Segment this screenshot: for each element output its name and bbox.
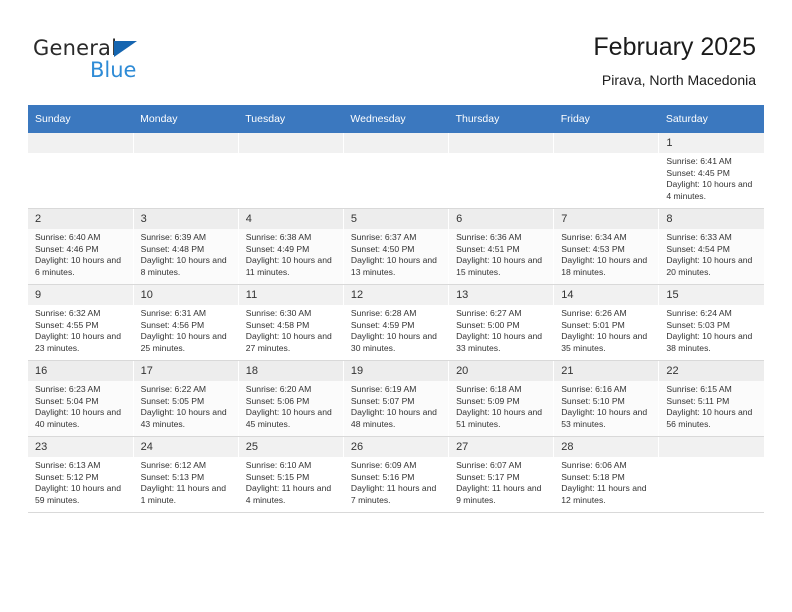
daylight-duration: Daylight: 11 hours and 7 minutes.: [351, 483, 442, 506]
daylight-duration: Daylight: 11 hours and 12 minutes.: [561, 483, 652, 506]
calendar-day-cell[interactable]: 1Sunrise: 6:41 AMSunset: 4:45 PMDaylight…: [659, 133, 764, 209]
day-number: 17: [134, 361, 238, 381]
calendar-day-cell[interactable]: 10Sunrise: 6:31 AMSunset: 4:56 PMDayligh…: [133, 285, 238, 361]
calendar-day-cell[interactable]: 21Sunrise: 6:16 AMSunset: 5:10 PMDayligh…: [554, 361, 659, 437]
sunset-time: Sunset: 5:13 PM: [141, 472, 232, 484]
daylight-duration: Daylight: 10 hours and 6 minutes.: [35, 255, 127, 278]
daylight-duration: Daylight: 10 hours and 20 minutes.: [666, 255, 758, 278]
sunrise-time: Sunrise: 6:40 AM: [35, 232, 127, 244]
sunset-time: Sunset: 5:06 PM: [246, 396, 337, 408]
weekday-header-tuesday: Tuesday: [238, 105, 343, 133]
calendar-day-cell[interactable]: 5Sunrise: 6:37 AMSunset: 4:50 PMDaylight…: [343, 209, 448, 285]
sunset-time: Sunset: 4:56 PM: [141, 320, 232, 332]
day-details: Sunrise: 6:36 AMSunset: 4:51 PMDaylight:…: [449, 229, 553, 278]
sunset-time: Sunset: 4:51 PM: [456, 244, 547, 256]
calendar-week-row: 1Sunrise: 6:41 AMSunset: 4:45 PMDaylight…: [28, 133, 764, 209]
daylight-duration: Daylight: 10 hours and 13 minutes.: [351, 255, 442, 278]
day-details: Sunrise: 6:19 AMSunset: 5:07 PMDaylight:…: [344, 381, 448, 430]
calendar-cell-empty: [28, 133, 133, 209]
day-details: Sunrise: 6:12 AMSunset: 5:13 PMDaylight:…: [134, 457, 238, 506]
sunrise-time: Sunrise: 6:23 AM: [35, 384, 127, 396]
sunrise-time: Sunrise: 6:06 AM: [561, 460, 652, 472]
sunrise-time: Sunrise: 6:28 AM: [351, 308, 442, 320]
day-details: Sunrise: 6:09 AMSunset: 5:16 PMDaylight:…: [344, 457, 448, 506]
sunset-time: Sunset: 5:09 PM: [456, 396, 547, 408]
day-number: [554, 133, 658, 153]
sunrise-time: Sunrise: 6:20 AM: [246, 384, 337, 396]
day-number: 20: [449, 361, 553, 381]
sunset-time: Sunset: 4:59 PM: [351, 320, 442, 332]
calendar-day-cell[interactable]: 23Sunrise: 6:13 AMSunset: 5:12 PMDayligh…: [28, 437, 133, 513]
sunrise-time: Sunrise: 6:41 AM: [666, 156, 758, 168]
day-number: [659, 437, 764, 457]
sunset-time: Sunset: 4:58 PM: [246, 320, 337, 332]
calendar-cell-empty: [554, 133, 659, 209]
calendar-day-cell[interactable]: 18Sunrise: 6:20 AMSunset: 5:06 PMDayligh…: [238, 361, 343, 437]
sunrise-time: Sunrise: 6:36 AM: [456, 232, 547, 244]
title-block: February 2025 Pirava, North Macedonia: [593, 32, 756, 90]
daylight-duration: Daylight: 10 hours and 18 minutes.: [561, 255, 652, 278]
daylight-duration: Daylight: 10 hours and 45 minutes.: [246, 407, 337, 430]
daylight-duration: Daylight: 10 hours and 11 minutes.: [246, 255, 337, 278]
daylight-duration: Daylight: 10 hours and 40 minutes.: [35, 407, 127, 430]
day-details: Sunrise: 6:10 AMSunset: 5:15 PMDaylight:…: [239, 457, 343, 506]
calendar-cell-empty: [659, 437, 764, 513]
day-number: 22: [659, 361, 764, 381]
calendar-day-cell[interactable]: 4Sunrise: 6:38 AMSunset: 4:49 PMDaylight…: [238, 209, 343, 285]
sunrise-time: Sunrise: 6:32 AM: [35, 308, 127, 320]
sunrise-time: Sunrise: 6:22 AM: [141, 384, 232, 396]
day-details: Sunrise: 6:37 AMSunset: 4:50 PMDaylight:…: [344, 229, 448, 278]
sunrise-time: Sunrise: 6:09 AM: [351, 460, 442, 472]
logo-text-general: General: [33, 36, 117, 60]
day-details: Sunrise: 6:39 AMSunset: 4:48 PMDaylight:…: [134, 229, 238, 278]
day-number: 13: [449, 285, 553, 305]
calendar-page: General Blue February 2025 Pirava, North…: [0, 0, 792, 612]
calendar-day-cell[interactable]: 13Sunrise: 6:27 AMSunset: 5:00 PMDayligh…: [449, 285, 554, 361]
calendar-cell-empty: [343, 133, 448, 209]
day-number: 23: [28, 437, 133, 457]
daylight-duration: Daylight: 10 hours and 43 minutes.: [141, 407, 232, 430]
daylight-duration: Daylight: 10 hours and 53 minutes.: [561, 407, 652, 430]
sunrise-time: Sunrise: 6:33 AM: [666, 232, 758, 244]
day-details: Sunrise: 6:23 AMSunset: 5:04 PMDaylight:…: [28, 381, 133, 430]
daylight-duration: Daylight: 10 hours and 38 minutes.: [666, 331, 758, 354]
calendar-week-row: 9Sunrise: 6:32 AMSunset: 4:55 PMDaylight…: [28, 285, 764, 361]
sunrise-time: Sunrise: 6:31 AM: [141, 308, 232, 320]
page-subtitle: Pirava, North Macedonia: [593, 70, 756, 90]
calendar-cell-empty: [133, 133, 238, 209]
day-details: Sunrise: 6:32 AMSunset: 4:55 PMDaylight:…: [28, 305, 133, 354]
day-details: Sunrise: 6:38 AMSunset: 4:49 PMDaylight:…: [239, 229, 343, 278]
day-details: Sunrise: 6:26 AMSunset: 5:01 PMDaylight:…: [554, 305, 658, 354]
day-details: Sunrise: 6:30 AMSunset: 4:58 PMDaylight:…: [239, 305, 343, 354]
sunset-time: Sunset: 5:12 PM: [35, 472, 127, 484]
daylight-duration: Daylight: 10 hours and 56 minutes.: [666, 407, 758, 430]
sunset-time: Sunset: 5:10 PM: [561, 396, 652, 408]
weekday-header-saturday: Saturday: [659, 105, 764, 133]
sunset-time: Sunset: 5:05 PM: [141, 396, 232, 408]
sunrise-time: Sunrise: 6:19 AM: [351, 384, 442, 396]
page-header: General Blue February 2025 Pirava, North…: [0, 0, 792, 103]
day-details: Sunrise: 6:41 AMSunset: 4:45 PMDaylight:…: [659, 153, 764, 202]
day-number: 5: [344, 209, 448, 229]
calendar-day-cell[interactable]: 22Sunrise: 6:15 AMSunset: 5:11 PMDayligh…: [659, 361, 764, 437]
sunrise-time: Sunrise: 6:38 AM: [246, 232, 337, 244]
day-details: Sunrise: 6:27 AMSunset: 5:00 PMDaylight:…: [449, 305, 553, 354]
sunset-time: Sunset: 5:01 PM: [561, 320, 652, 332]
daylight-duration: Daylight: 10 hours and 8 minutes.: [141, 255, 232, 278]
sunrise-time: Sunrise: 6:12 AM: [141, 460, 232, 472]
calendar-day-cell[interactable]: 11Sunrise: 6:30 AMSunset: 4:58 PMDayligh…: [238, 285, 343, 361]
weekday-header-wednesday: Wednesday: [343, 105, 448, 133]
sunset-time: Sunset: 4:49 PM: [246, 244, 337, 256]
sunrise-time: Sunrise: 6:39 AM: [141, 232, 232, 244]
sunset-time: Sunset: 4:54 PM: [666, 244, 758, 256]
calendar-body: 1Sunrise: 6:41 AMSunset: 4:45 PMDaylight…: [28, 133, 764, 513]
calendar-day-cell[interactable]: 14Sunrise: 6:26 AMSunset: 5:01 PMDayligh…: [554, 285, 659, 361]
weekday-header-monday: Monday: [133, 105, 238, 133]
day-details: Sunrise: 6:20 AMSunset: 5:06 PMDaylight:…: [239, 381, 343, 430]
day-number: 19: [344, 361, 448, 381]
day-number: [28, 133, 133, 153]
day-details: Sunrise: 6:22 AMSunset: 5:05 PMDaylight:…: [134, 381, 238, 430]
logo-text-blue: Blue: [90, 58, 136, 82]
sunset-time: Sunset: 5:00 PM: [456, 320, 547, 332]
calendar-day-cell[interactable]: 9Sunrise: 6:32 AMSunset: 4:55 PMDaylight…: [28, 285, 133, 361]
day-details: Sunrise: 6:18 AMSunset: 5:09 PMDaylight:…: [449, 381, 553, 430]
day-details: Sunrise: 6:24 AMSunset: 5:03 PMDaylight:…: [659, 305, 764, 354]
day-number: 9: [28, 285, 133, 305]
sunrise-sunset-calendar: Sunday Monday Tuesday Wednesday Thursday…: [28, 105, 764, 513]
day-details: Sunrise: 6:28 AMSunset: 4:59 PMDaylight:…: [344, 305, 448, 354]
sunset-time: Sunset: 4:46 PM: [35, 244, 127, 256]
day-details: Sunrise: 6:33 AMSunset: 4:54 PMDaylight:…: [659, 229, 764, 278]
sunset-time: Sunset: 4:48 PM: [141, 244, 232, 256]
calendar-day-cell[interactable]: 20Sunrise: 6:18 AMSunset: 5:09 PMDayligh…: [449, 361, 554, 437]
weekday-header-row: Sunday Monday Tuesday Wednesday Thursday…: [28, 105, 764, 133]
daylight-duration: Daylight: 10 hours and 51 minutes.: [456, 407, 547, 430]
sunrise-time: Sunrise: 6:27 AM: [456, 308, 547, 320]
daylight-duration: Daylight: 10 hours and 48 minutes.: [351, 407, 442, 430]
day-details: Sunrise: 6:15 AMSunset: 5:11 PMDaylight:…: [659, 381, 764, 430]
calendar-day-cell[interactable]: 6Sunrise: 6:36 AMSunset: 4:51 PMDaylight…: [449, 209, 554, 285]
calendar-day-cell[interactable]: 16Sunrise: 6:23 AMSunset: 5:04 PMDayligh…: [28, 361, 133, 437]
day-number: 8: [659, 209, 764, 229]
weekday-header-thursday: Thursday: [449, 105, 554, 133]
weekday-header-friday: Friday: [554, 105, 659, 133]
sunrise-time: Sunrise: 6:18 AM: [456, 384, 547, 396]
day-details: Sunrise: 6:16 AMSunset: 5:10 PMDaylight:…: [554, 381, 658, 430]
calendar-day-cell[interactable]: 24Sunrise: 6:12 AMSunset: 5:13 PMDayligh…: [133, 437, 238, 513]
page-title: February 2025: [593, 32, 756, 62]
day-number: 15: [659, 285, 764, 305]
sunset-time: Sunset: 4:53 PM: [561, 244, 652, 256]
day-details: Sunrise: 6:31 AMSunset: 4:56 PMDaylight:…: [134, 305, 238, 354]
calendar-week-row: 23Sunrise: 6:13 AMSunset: 5:12 PMDayligh…: [28, 437, 764, 513]
calendar-day-cell[interactable]: 25Sunrise: 6:10 AMSunset: 5:15 PMDayligh…: [238, 437, 343, 513]
sunset-time: Sunset: 4:55 PM: [35, 320, 127, 332]
calendar-day-cell[interactable]: 26Sunrise: 6:09 AMSunset: 5:16 PMDayligh…: [343, 437, 448, 513]
day-number: [239, 133, 343, 153]
calendar-day-cell[interactable]: 17Sunrise: 6:22 AMSunset: 5:05 PMDayligh…: [133, 361, 238, 437]
daylight-duration: Daylight: 11 hours and 9 minutes.: [456, 483, 547, 506]
day-details: Sunrise: 6:06 AMSunset: 5:18 PMDaylight:…: [554, 457, 658, 506]
sunrise-time: Sunrise: 6:37 AM: [351, 232, 442, 244]
sunset-time: Sunset: 5:18 PM: [561, 472, 652, 484]
daylight-duration: Daylight: 10 hours and 15 minutes.: [456, 255, 547, 278]
sunset-time: Sunset: 5:07 PM: [351, 396, 442, 408]
day-number: [449, 133, 553, 153]
calendar-day-cell[interactable]: 19Sunrise: 6:19 AMSunset: 5:07 PMDayligh…: [343, 361, 448, 437]
day-number: 10: [134, 285, 238, 305]
sunset-time: Sunset: 4:50 PM: [351, 244, 442, 256]
sunrise-time: Sunrise: 6:10 AM: [246, 460, 337, 472]
day-number: [134, 133, 238, 153]
sunrise-time: Sunrise: 6:07 AM: [456, 460, 547, 472]
sunset-time: Sunset: 5:17 PM: [456, 472, 547, 484]
sunrise-time: Sunrise: 6:15 AM: [666, 384, 758, 396]
sunrise-time: Sunrise: 6:34 AM: [561, 232, 652, 244]
sunset-time: Sunset: 5:16 PM: [351, 472, 442, 484]
day-number: 6: [449, 209, 553, 229]
sunset-time: Sunset: 5:03 PM: [666, 320, 758, 332]
daylight-duration: Daylight: 10 hours and 27 minutes.: [246, 331, 337, 354]
calendar-day-cell[interactable]: 3Sunrise: 6:39 AMSunset: 4:48 PMDaylight…: [133, 209, 238, 285]
day-number: 11: [239, 285, 343, 305]
calendar-day-cell[interactable]: 12Sunrise: 6:28 AMSunset: 4:59 PMDayligh…: [343, 285, 448, 361]
general-blue-logo: General Blue: [33, 36, 233, 86]
day-details: Sunrise: 6:13 AMSunset: 5:12 PMDaylight:…: [28, 457, 133, 506]
sunset-time: Sunset: 5:15 PM: [246, 472, 337, 484]
day-number: 27: [449, 437, 553, 457]
day-number: 25: [239, 437, 343, 457]
day-number: 16: [28, 361, 133, 381]
calendar-week-row: 2Sunrise: 6:40 AMSunset: 4:46 PMDaylight…: [28, 209, 764, 285]
logo-triangle-icon: [114, 41, 137, 57]
sunset-time: Sunset: 5:11 PM: [666, 396, 758, 408]
sunrise-time: Sunrise: 6:16 AM: [561, 384, 652, 396]
daylight-duration: Daylight: 11 hours and 4 minutes.: [246, 483, 337, 506]
calendar-week-row: 16Sunrise: 6:23 AMSunset: 5:04 PMDayligh…: [28, 361, 764, 437]
daylight-duration: Daylight: 10 hours and 30 minutes.: [351, 331, 442, 354]
sunrise-time: Sunrise: 6:30 AM: [246, 308, 337, 320]
calendar-day-cell[interactable]: 15Sunrise: 6:24 AMSunset: 5:03 PMDayligh…: [659, 285, 764, 361]
weekday-header-sunday: Sunday: [28, 105, 133, 133]
calendar-day-cell[interactable]: 8Sunrise: 6:33 AMSunset: 4:54 PMDaylight…: [659, 209, 764, 285]
daylight-duration: Daylight: 10 hours and 25 minutes.: [141, 331, 232, 354]
daylight-duration: Daylight: 10 hours and 59 minutes.: [35, 483, 127, 506]
sunrise-time: Sunrise: 6:24 AM: [666, 308, 758, 320]
day-number: 24: [134, 437, 238, 457]
daylight-duration: Daylight: 10 hours and 33 minutes.: [456, 331, 547, 354]
sunset-time: Sunset: 5:04 PM: [35, 396, 127, 408]
calendar-day-cell[interactable]: 7Sunrise: 6:34 AMSunset: 4:53 PMDaylight…: [554, 209, 659, 285]
day-number: 2: [28, 209, 133, 229]
calendar-cell-empty: [238, 133, 343, 209]
daylight-duration: Daylight: 10 hours and 23 minutes.: [35, 331, 127, 354]
day-number: 4: [239, 209, 343, 229]
sunrise-time: Sunrise: 6:13 AM: [35, 460, 127, 472]
day-number: 12: [344, 285, 448, 305]
sunrise-time: Sunrise: 6:26 AM: [561, 308, 652, 320]
day-number: 18: [239, 361, 343, 381]
daylight-duration: Daylight: 10 hours and 35 minutes.: [561, 331, 652, 354]
day-number: 1: [659, 133, 764, 153]
sunset-time: Sunset: 4:45 PM: [666, 168, 758, 180]
daylight-duration: Daylight: 11 hours and 1 minute.: [141, 483, 232, 506]
calendar-day-cell[interactable]: 27Sunrise: 6:07 AMSunset: 5:17 PMDayligh…: [449, 437, 554, 513]
day-number: 3: [134, 209, 238, 229]
calendar-cell-empty: [449, 133, 554, 209]
day-number: 28: [554, 437, 658, 457]
daylight-duration: Daylight: 10 hours and 4 minutes.: [666, 179, 758, 202]
day-number: 26: [344, 437, 448, 457]
day-number: 7: [554, 209, 658, 229]
day-details: Sunrise: 6:34 AMSunset: 4:53 PMDaylight:…: [554, 229, 658, 278]
day-number: 21: [554, 361, 658, 381]
day-details: Sunrise: 6:07 AMSunset: 5:17 PMDaylight:…: [449, 457, 553, 506]
day-details: Sunrise: 6:40 AMSunset: 4:46 PMDaylight:…: [28, 229, 133, 278]
calendar-day-cell[interactable]: 2Sunrise: 6:40 AMSunset: 4:46 PMDaylight…: [28, 209, 133, 285]
day-number: 14: [554, 285, 658, 305]
day-number: [344, 133, 448, 153]
calendar-day-cell[interactable]: 28Sunrise: 6:06 AMSunset: 5:18 PMDayligh…: [554, 437, 659, 513]
